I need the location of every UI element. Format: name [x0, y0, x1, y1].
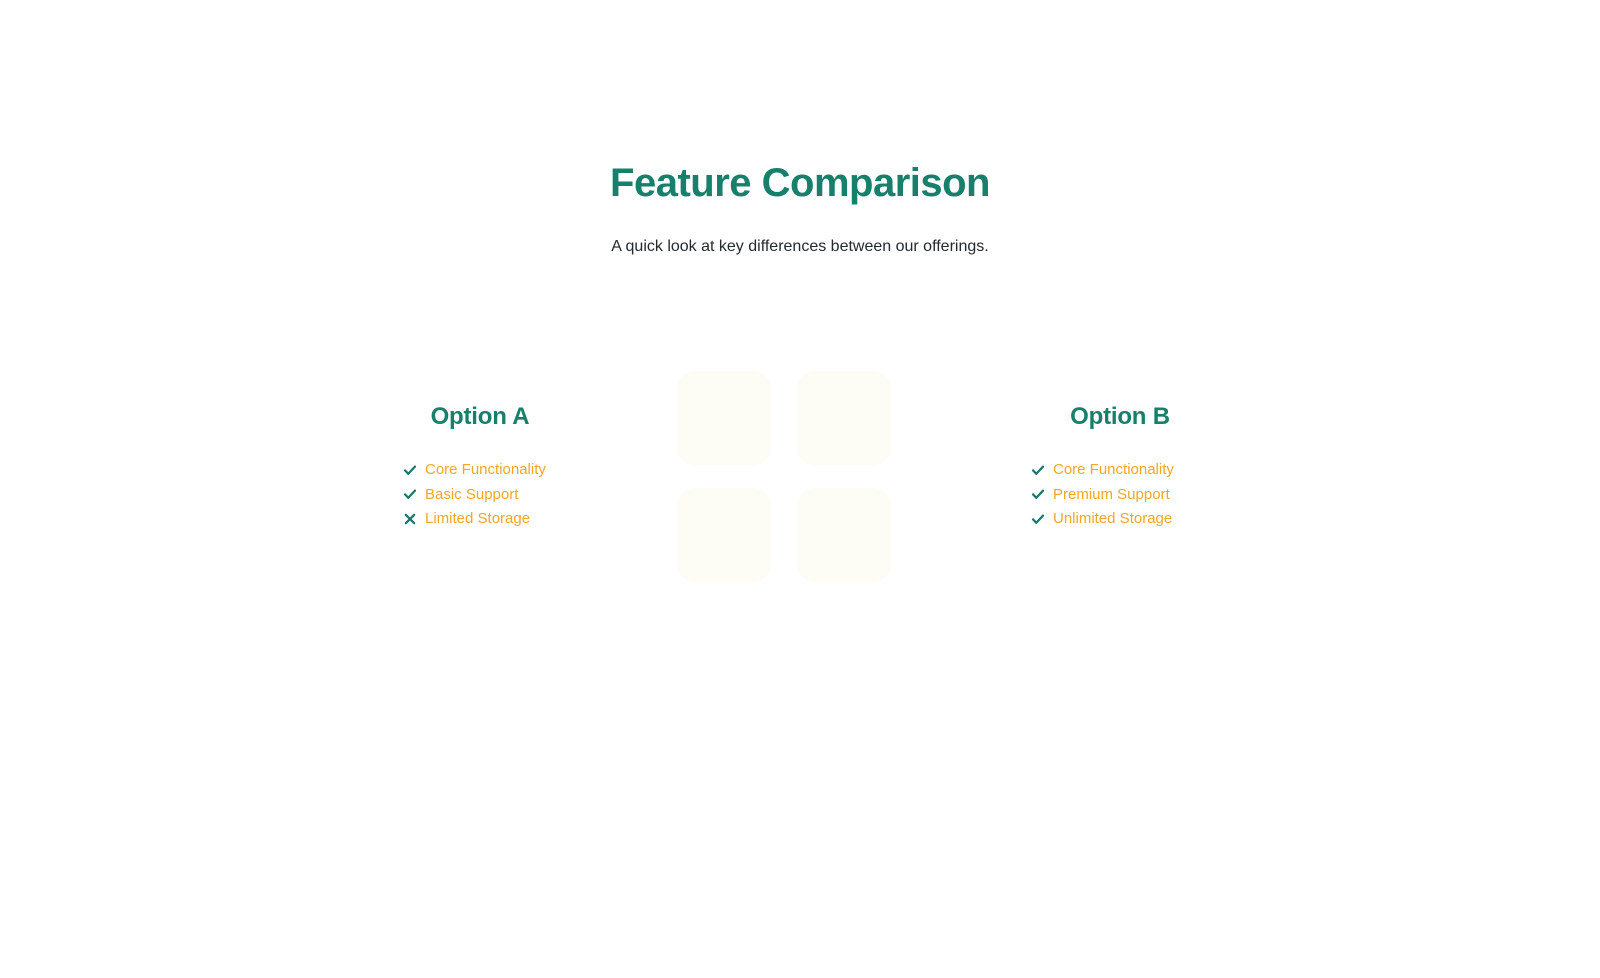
feature-row: Unlimited Storage: [995, 508, 1245, 530]
feature-row: Core Functionality: [355, 459, 605, 481]
check-icon: [403, 487, 417, 501]
comparison-column-option-b: Option B Core Functionality: [970, 403, 1270, 530]
page-subtitle: A quick look at key differences between …: [0, 236, 1600, 258]
feature-label: Premium Support: [1053, 484, 1170, 506]
comparison-section: Option A Core Functionality: [0, 371, 1600, 601]
column-title-option-b: Option B: [970, 403, 1270, 432]
feature-row: Core Functionality: [995, 459, 1245, 481]
feature-label: Limited Storage: [425, 508, 530, 530]
feature-label: Core Functionality: [1053, 459, 1174, 481]
feature-row: Premium Support: [995, 484, 1245, 506]
page-title: Feature Comparison: [0, 160, 1600, 206]
check-icon: [1031, 463, 1045, 477]
comparison-column-option-a: Option A Core Functionality: [330, 403, 630, 530]
feature-comparison-page: Feature Comparison A quick look at key d…: [0, 0, 1600, 978]
cross-icon: [403, 512, 417, 526]
feature-row: Limited Storage: [355, 508, 605, 530]
page-header: Feature Comparison A quick look at key d…: [0, 160, 1600, 258]
feature-label: Core Functionality: [425, 459, 546, 481]
check-icon: [403, 463, 417, 477]
feature-label: Basic Support: [425, 484, 518, 506]
feature-list-option-b: Core Functionality Premium Support: [970, 459, 1270, 530]
check-icon: [1031, 512, 1045, 526]
feature-list-option-a: Core Functionality Basic Support: [330, 459, 630, 530]
column-title-option-a: Option A: [330, 403, 630, 432]
feature-label: Unlimited Storage: [1053, 508, 1172, 530]
feature-row: Basic Support: [355, 484, 605, 506]
check-icon: [1031, 487, 1045, 501]
